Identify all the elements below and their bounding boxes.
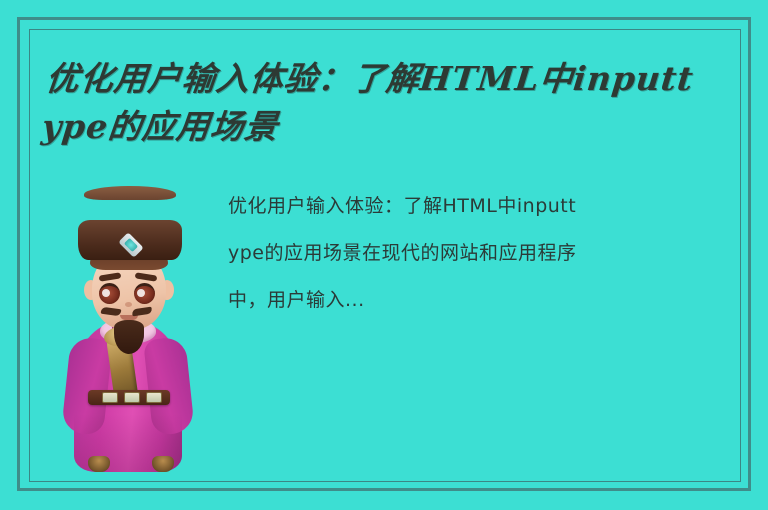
character-belt-plaque	[124, 392, 140, 403]
article-title-line-1: 优化用户输入体验：了解HTML中inputt	[43, 55, 738, 103]
character-eye-highlight-right	[137, 289, 145, 297]
character-illustration	[44, 182, 210, 474]
article-excerpt-line-2: ype的应用场景在现代的网站和应用程序	[228, 230, 740, 277]
article-title: 优化用户输入体验：了解HTML中inputt ype的应用场景	[46, 55, 736, 151]
character-eye-highlight-left	[102, 289, 110, 297]
article-excerpt-line-1: 优化用户输入体验：了解HTML中inputt	[228, 183, 740, 230]
character-shoe-right	[152, 456, 174, 472]
article-title-line-2: ype的应用场景	[39, 103, 738, 151]
article-excerpt: 优化用户输入体验：了解HTML中inputt ype的应用场景在现代的网站和应用…	[228, 183, 740, 324]
character-belt-plaque	[102, 392, 118, 403]
character-hat-crown	[84, 186, 176, 200]
article-card: 优化用户输入体验：了解HTML中inputt ype的应用场景	[0, 0, 768, 510]
character-shoe-left	[88, 456, 110, 472]
character-nose	[125, 302, 132, 307]
article-excerpt-line-3: 中，用户输入...	[228, 277, 740, 324]
character-belt-plaque	[146, 392, 162, 403]
